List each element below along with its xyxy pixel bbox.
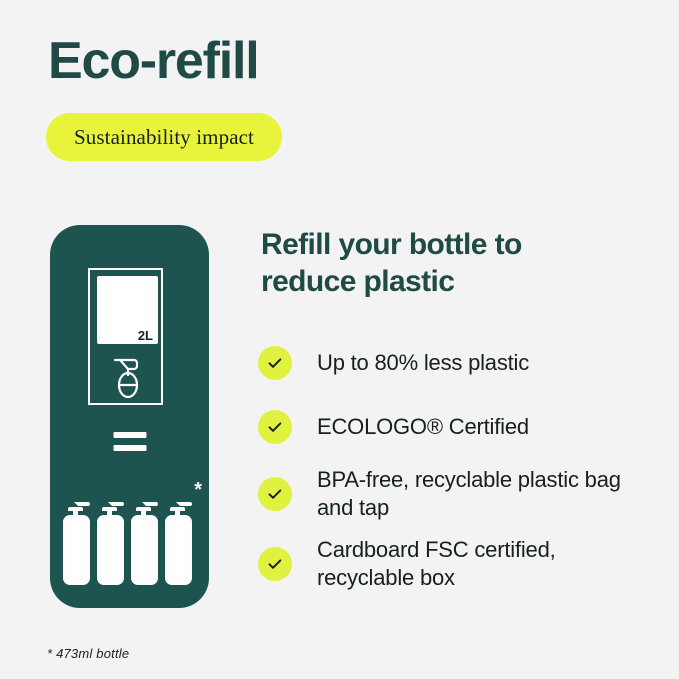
content-heading: Refill your bottle to reduce plastic [261, 227, 641, 300]
feature-list: Up to 80% less plastic ECOLOGO® Certifie… [258, 338, 658, 607]
check-icon [258, 477, 292, 511]
footnote: * 473ml bottle [47, 646, 129, 661]
bottles-row: * [62, 487, 198, 587]
check-icon [258, 346, 292, 380]
pump-bottle-icon [130, 500, 159, 587]
equals-bar-bottom [113, 445, 146, 451]
check-icon [258, 547, 292, 581]
feature-text: BPA-free, recyclable plastic bag and tap [317, 466, 658, 522]
list-item: Cardboard FSC certified, recyclable box [258, 536, 658, 592]
feature-text: Up to 80% less plastic [317, 349, 529, 377]
check-icon [258, 410, 292, 444]
illustration-panel: 2L [50, 225, 209, 608]
list-item: ECOLOGO® Certified [258, 402, 658, 452]
content-heading-line-1: Refill your bottle to [261, 227, 641, 264]
status-badge-label: Sustainability impact [74, 125, 254, 150]
content-heading-line-2: reduce plastic [261, 264, 641, 301]
feature-text: ECOLOGO® Certified [317, 413, 529, 441]
bag-volume-label: 2L [138, 329, 153, 342]
list-item: Up to 80% less plastic [258, 338, 658, 388]
list-item: BPA-free, recyclable plastic bag and tap [258, 466, 658, 522]
refill-box-outline: 2L [88, 268, 163, 405]
page-title: Eco-refill [48, 34, 259, 89]
pump-bottle-icon [96, 500, 125, 587]
feature-text: Cardboard FSC certified, recyclable box [317, 536, 658, 592]
pump-bottle-icon [62, 500, 91, 587]
asterisk-footnote-marker: * [194, 480, 202, 500]
status-badge: Sustainability impact [46, 113, 282, 161]
equals-sign-icon [113, 432, 146, 451]
tap-spout-icon [107, 356, 149, 400]
refill-bag: 2L [97, 276, 158, 344]
pump-bottle-icon [164, 500, 193, 587]
equals-bar-top [113, 432, 146, 438]
